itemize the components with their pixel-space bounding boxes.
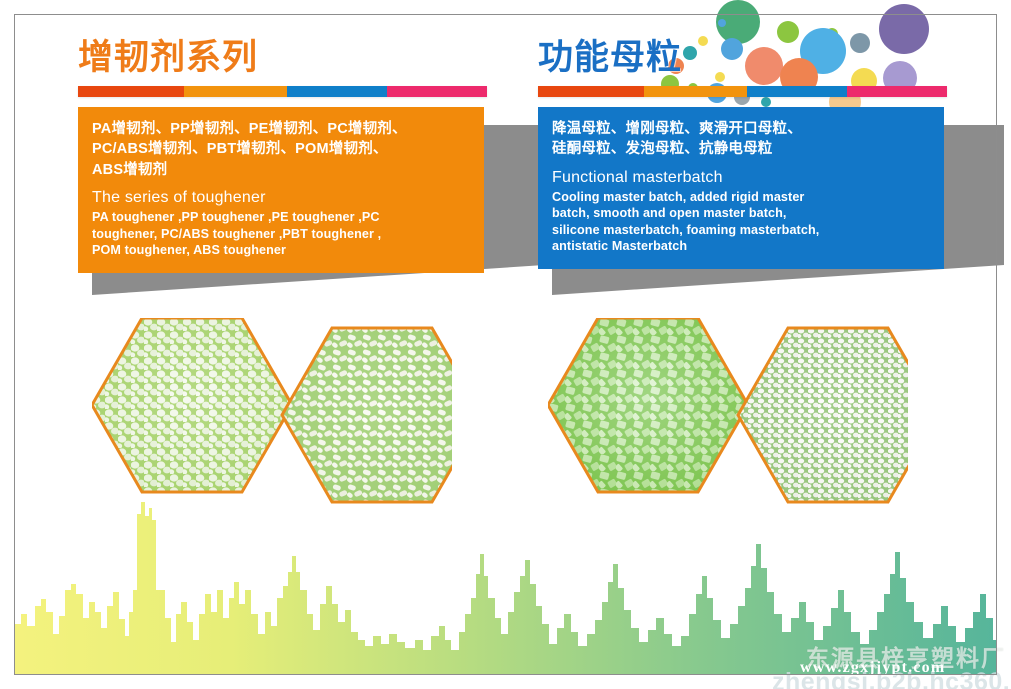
panel-title-toughener: 增韧剂系列	[78, 40, 498, 77]
hex-image-green-translucent-pellets	[548, 318, 748, 492]
en-line: silicone masterbatch, foaming masterbatc…	[552, 222, 930, 239]
colorbar-segment-4	[847, 86, 947, 97]
watermark-url: www.zgxjjypt.com	[800, 659, 945, 677]
en-heading: The series of toughener	[92, 187, 470, 209]
colorbar-left	[78, 86, 487, 97]
en-heading: Functional masterbatch	[552, 167, 930, 189]
cn-line: 硅酮母粒、发泡母粒、抗静电母粒	[552, 139, 930, 160]
panel-masterbatch: 功能母粒 降温母粒、增刚母粒、爽滑开口母粒、 硅酮母粒、发泡母粒、抗静电母粒 F…	[538, 40, 958, 269]
hex-image-white-granular-pellets	[738, 328, 908, 502]
panel-title-masterbatch: 功能母粒	[538, 40, 958, 77]
bubble-circle	[718, 19, 726, 27]
en-line: Cooling master batch, added rigid master	[552, 189, 930, 206]
poster-canvas: 增韧剂系列 PA增韧剂、PP增韧剂、PE增韧剂、PC增韧剂、 PC/ABS增韧剂…	[0, 0, 1011, 689]
hex-image-white-round-pellets	[92, 318, 292, 492]
cn-line: PC/ABS增韧剂、PBT增韧剂、POM增韧剂、	[92, 139, 470, 160]
en-line: toughener, PC/ABS toughener ,PBT toughen…	[92, 226, 470, 243]
cn-line: 降温母粒、增刚母粒、爽滑开口母粒、	[552, 119, 930, 140]
en-line: batch, smooth and open master batch,	[552, 205, 930, 222]
colorbar-segment-2	[644, 86, 746, 97]
colorbar-segment-4	[387, 86, 487, 97]
textbox-masterbatch: 降温母粒、增刚母粒、爽滑开口母粒、 硅酮母粒、发泡母粒、抗静电母粒 Functi…	[538, 107, 944, 269]
product-images-toughener	[92, 318, 452, 513]
colorbar-segment-2	[184, 86, 286, 97]
cn-line: PA增韧剂、PP增韧剂、PE增韧剂、PC增韧剂、	[92, 119, 470, 140]
product-images-masterbatch	[548, 318, 908, 513]
en-line: POM toughener, ABS toughener	[92, 242, 470, 259]
colorbar-right	[538, 86, 947, 97]
panel-toughener: 增韧剂系列 PA增韧剂、PP增韧剂、PE增韧剂、PC增韧剂、 PC/ABS增韧剂…	[78, 40, 498, 273]
en-line: antistatic Masterbatch	[552, 238, 930, 255]
hex-image-white-cylindrical-pellets	[282, 328, 452, 502]
en-line: PA toughener ,PP toughener ,PE toughener…	[92, 209, 470, 226]
cn-line: ABS增韧剂	[92, 160, 470, 181]
colorbar-segment-1	[538, 86, 644, 97]
textbox-toughener: PA增韧剂、PP增韧剂、PE增韧剂、PC增韧剂、 PC/ABS增韧剂、PBT增韧…	[78, 107, 484, 273]
colorbar-segment-3	[287, 86, 387, 97]
colorbar-segment-3	[747, 86, 847, 97]
colorbar-segment-1	[78, 86, 184, 97]
